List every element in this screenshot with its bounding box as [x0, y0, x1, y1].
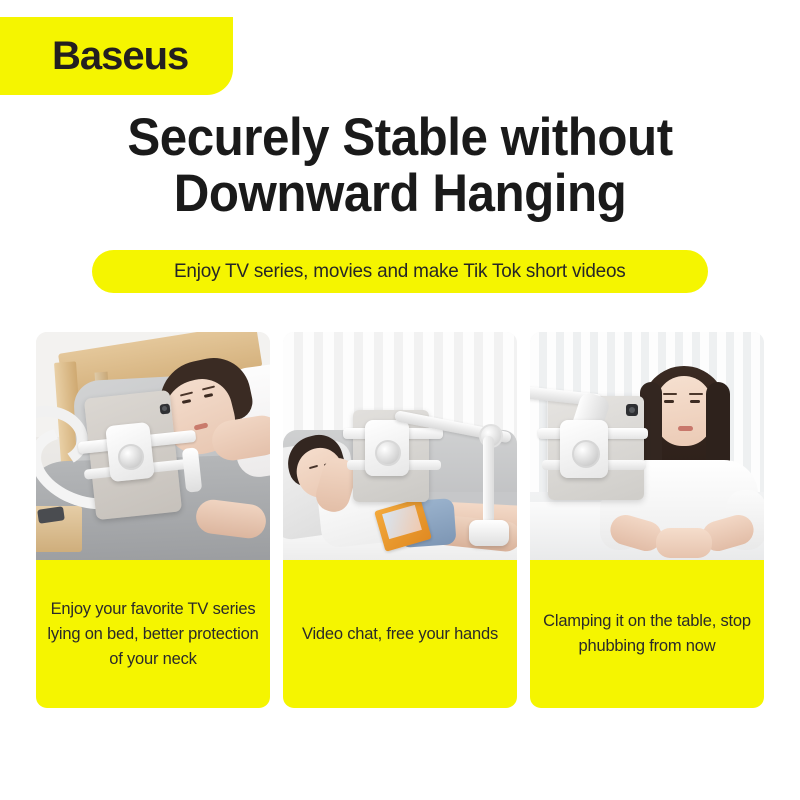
holder-adjust-knob: [375, 440, 401, 466]
tablet-camera-lens: [629, 407, 635, 413]
panel-caption-sofa: Video chat, free your hands: [283, 560, 517, 708]
caption-text: Video chat, free your hands: [302, 622, 498, 647]
photo-table-scene: [530, 332, 764, 560]
person-clasped-hands: [656, 528, 712, 558]
product-marketing-page: Baseus Securely Stable without Downward …: [0, 0, 800, 800]
vertical-support-pole: [483, 436, 494, 530]
tablet-camera-lens: [162, 406, 167, 411]
page-title: Securely Stable without Downward Hanging: [0, 110, 800, 222]
feature-panel-table: Clamping it on the table, stop phubbing …: [530, 332, 764, 708]
person-eyebrow-left: [663, 393, 677, 395]
photo-sofa-scene: [283, 332, 517, 560]
headline-line-1: Securely Stable without: [28, 110, 772, 166]
holder-adjust-knob: [118, 444, 144, 470]
photo-bed-scene: [36, 332, 270, 560]
brand-badge: Baseus: [0, 17, 233, 95]
person-lips: [678, 426, 693, 431]
panel-caption-bed: Enjoy your favorite TV series lying on b…: [36, 560, 270, 708]
table-clamp-base: [469, 520, 509, 546]
person-eye-left: [664, 400, 674, 403]
feature-panel-bed: Enjoy your favorite TV series lying on b…: [36, 332, 270, 708]
person-eyebrow-right: [689, 393, 703, 395]
feature-panel-sofa: Video chat, free your hands: [283, 332, 517, 708]
brand-logo-text: Baseus: [52, 36, 188, 76]
subtitle-text: Enjoy TV series, movies and make Tik Tok…: [174, 260, 626, 283]
caption-text: Enjoy your favorite TV series lying on b…: [46, 597, 260, 672]
person-face: [656, 376, 712, 446]
person-eye-right: [690, 400, 700, 403]
subtitle-banner: Enjoy TV series, movies and make Tik Tok…: [92, 250, 708, 293]
headline-line-2: Downward Hanging: [28, 166, 772, 222]
panel-caption-table: Clamping it on the table, stop phubbing …: [530, 560, 764, 708]
holder-adjust-knob: [572, 440, 600, 468]
caption-text: Clamping it on the table, stop phubbing …: [540, 609, 754, 659]
feature-panel-row: Enjoy your favorite TV series lying on b…: [36, 332, 764, 708]
